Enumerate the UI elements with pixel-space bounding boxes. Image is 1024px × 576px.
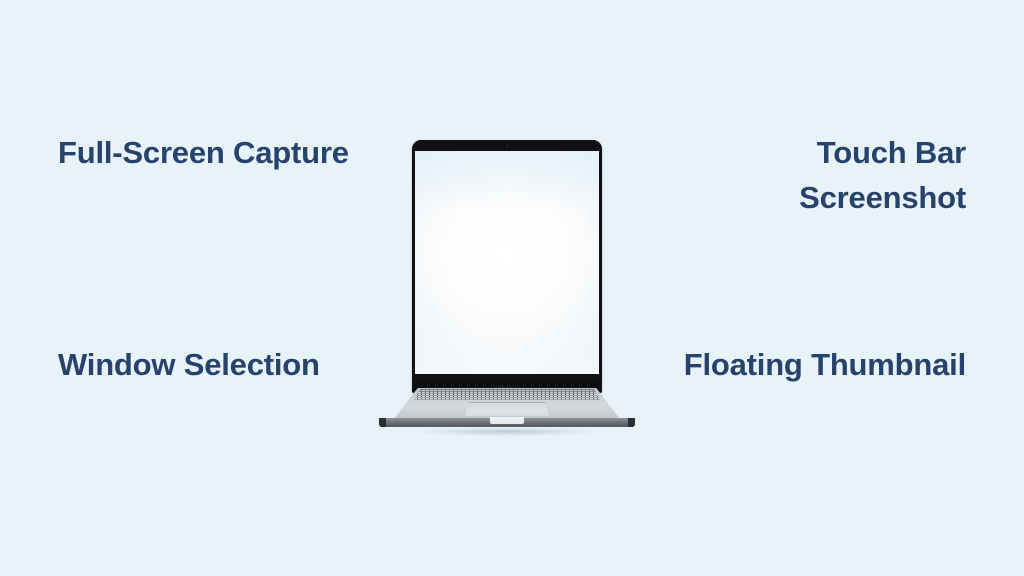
keyboard-row — [414, 394, 600, 395]
diagram-canvas: Full-Screen Capture Touch Bar Screenshot… — [0, 0, 1024, 576]
laptop-drop-shadow — [382, 428, 632, 440]
laptop-keyboard — [414, 389, 600, 400]
feature-label-floating-thumbnail: Floating Thumbnail — [684, 342, 966, 387]
keyboard-row — [414, 398, 600, 399]
feature-label-window-selection: Window Selection — [58, 342, 320, 387]
webcam-icon — [506, 145, 508, 147]
laptop-lid: MacBook Pro — [412, 140, 602, 393]
laptop-trackpad — [465, 402, 549, 416]
keyboard-row — [414, 390, 600, 391]
laptop-illustration: MacBook Pro — [373, 140, 641, 440]
keyboard-row — [414, 392, 600, 393]
laptop-front-notch — [490, 417, 524, 424]
laptop-screen — [415, 151, 599, 374]
feature-label-full-screen-capture: Full-Screen Capture — [58, 130, 349, 175]
feature-label-touch-bar-screenshot: Touch Bar Screenshot — [799, 130, 966, 220]
keyboard-row — [414, 396, 600, 397]
